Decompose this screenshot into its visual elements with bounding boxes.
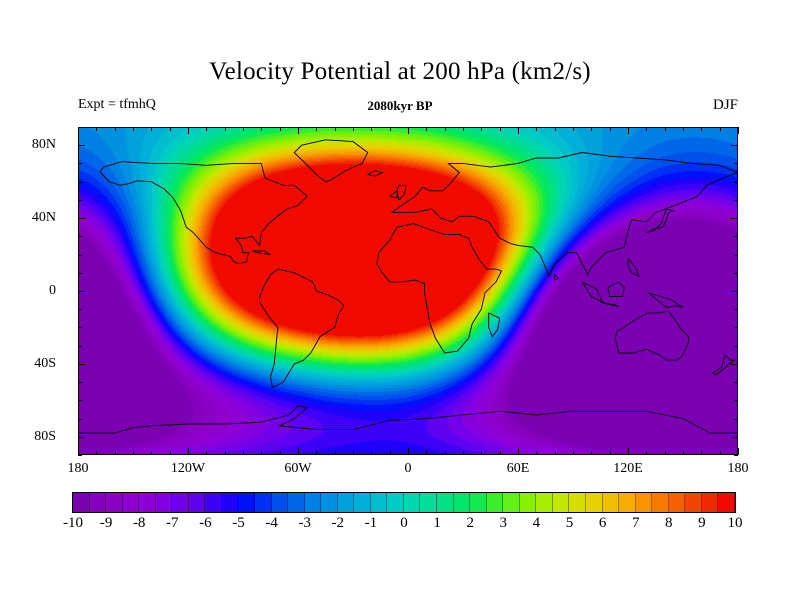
colorbar <box>72 492 736 513</box>
tick-mark <box>738 448 739 455</box>
tick-mark <box>225 127 226 131</box>
tick-mark <box>353 451 354 455</box>
tick-mark <box>243 451 244 455</box>
tick-mark <box>78 182 82 183</box>
tick-mark <box>78 382 82 383</box>
tick-mark <box>335 127 336 131</box>
tick-mark <box>115 127 116 131</box>
colorbar-band-14 <box>305 493 322 512</box>
tick-mark <box>536 127 537 131</box>
lon-label-180: 180 <box>698 461 778 477</box>
colorbar-band-32 <box>603 493 620 512</box>
tick-mark <box>646 127 647 131</box>
colorbar-band-6 <box>172 493 189 512</box>
tick-mark <box>573 451 574 455</box>
lon-label-60W: 60W <box>258 461 338 477</box>
tick-mark <box>500 451 501 455</box>
colorbar-band-22 <box>437 493 454 512</box>
tick-mark <box>335 451 336 455</box>
coastline-path <box>648 293 683 308</box>
colorbar-band-2 <box>106 493 123 512</box>
tick-mark <box>591 127 592 131</box>
coastline-path <box>601 302 619 307</box>
tick-mark <box>734 419 738 420</box>
tick-mark <box>170 127 171 131</box>
colorbar-band-3 <box>123 493 140 512</box>
tick-mark <box>738 127 739 134</box>
tick-mark <box>390 451 391 455</box>
tick-mark <box>115 451 116 455</box>
colorbar-band-4 <box>139 493 156 512</box>
colorbar-band-36 <box>669 493 686 512</box>
colorbar-band-20 <box>404 493 421 512</box>
coastline-path <box>252 251 270 255</box>
coastline-path <box>628 258 639 276</box>
tick-mark <box>734 200 738 201</box>
tick-mark <box>78 236 82 237</box>
tick-mark <box>206 451 207 455</box>
tick-mark <box>445 127 446 131</box>
tick-mark <box>481 127 482 131</box>
tick-mark <box>610 127 611 131</box>
tick-mark <box>481 451 482 455</box>
experiment-label: Expt = tfmhQ <box>78 97 156 113</box>
tick-mark <box>78 127 82 128</box>
tick-mark <box>78 218 85 219</box>
tick-mark <box>646 451 647 455</box>
colorbar-band-8 <box>205 493 222 512</box>
tick-mark <box>243 127 244 131</box>
tick-mark <box>390 127 391 131</box>
colorbar-band-12 <box>272 493 289 512</box>
coastline-path <box>615 311 688 360</box>
tick-mark <box>408 448 409 455</box>
colorbar-band-30 <box>569 493 586 512</box>
colorbar-band-16 <box>338 493 355 512</box>
tick-mark <box>78 455 82 456</box>
tick-mark <box>701 127 702 131</box>
tick-mark <box>151 451 152 455</box>
colorbar-band-21 <box>420 493 437 512</box>
colorbar-band-7 <box>189 493 206 512</box>
colorbar-band-1 <box>90 493 107 512</box>
velocity-potential-map <box>78 127 738 455</box>
tick-mark <box>734 346 738 347</box>
tick-mark <box>188 448 189 455</box>
page-title: Velocity Potential at 200 hPa (km2/s) <box>0 58 800 86</box>
lat-label-40N: 40N <box>0 210 56 226</box>
tick-mark <box>731 437 738 438</box>
coastline-path <box>646 209 674 233</box>
tick-mark <box>170 451 171 455</box>
tick-mark <box>463 127 464 131</box>
tick-mark <box>734 309 738 310</box>
colorbar-band-25 <box>487 493 504 512</box>
tick-mark <box>734 327 738 328</box>
lon-label-180: 180 <box>38 461 118 477</box>
tick-mark <box>720 451 721 455</box>
tick-mark <box>555 451 556 455</box>
tick-mark <box>353 127 354 131</box>
tick-mark <box>518 127 519 134</box>
tick-mark <box>298 127 299 134</box>
tick-mark <box>316 451 317 455</box>
lon-label-60E: 60E <box>478 461 558 477</box>
colorbar-band-11 <box>255 493 272 512</box>
tick-mark <box>78 163 82 164</box>
colorbar-band-39 <box>718 493 735 512</box>
tick-mark <box>734 382 738 383</box>
colorbar-band-35 <box>652 493 669 512</box>
tick-mark <box>628 448 629 455</box>
tick-mark <box>734 127 738 128</box>
tick-mark <box>731 145 738 146</box>
tick-mark <box>371 127 372 131</box>
season-label: DJF <box>713 97 738 114</box>
coastline-path <box>368 171 383 177</box>
colorbar-band-28 <box>536 493 553 512</box>
colorbar-band-34 <box>636 493 653 512</box>
lat-label-80S: 80S <box>0 429 56 445</box>
tick-mark <box>734 182 738 183</box>
tick-mark <box>426 127 427 131</box>
tick-mark <box>78 327 82 328</box>
tick-mark <box>734 455 738 456</box>
coastline-overlay <box>78 127 738 455</box>
tick-mark <box>280 451 281 455</box>
tick-mark <box>96 127 97 131</box>
colorbar-band-5 <box>156 493 173 512</box>
lon-label-0: 0 <box>368 461 448 477</box>
coastline-path <box>390 191 397 198</box>
tick-mark <box>734 273 738 274</box>
tick-mark <box>78 255 82 256</box>
tick-mark <box>371 451 372 455</box>
colorbar-band-29 <box>553 493 570 512</box>
tick-mark <box>683 127 684 131</box>
tick-mark <box>665 451 666 455</box>
tick-mark <box>151 127 152 131</box>
tick-mark <box>225 451 226 455</box>
colorbar-band-9 <box>222 493 239 512</box>
tick-mark <box>734 163 738 164</box>
tick-mark <box>280 127 281 131</box>
tick-mark <box>78 364 85 365</box>
colorbar-band-15 <box>321 493 338 512</box>
tick-mark <box>731 291 738 292</box>
tick-mark <box>96 451 97 455</box>
coastline-path <box>582 282 602 302</box>
coastline-path <box>608 282 625 297</box>
lon-label-120E: 120E <box>588 461 668 477</box>
tick-mark <box>463 451 464 455</box>
tick-mark <box>665 127 666 131</box>
tick-mark <box>536 451 537 455</box>
colorbar-band-33 <box>619 493 636 512</box>
tick-mark <box>734 255 738 256</box>
colorbar-band-31 <box>586 493 603 512</box>
tick-mark <box>731 218 738 219</box>
tick-mark <box>734 400 738 401</box>
coastline-path <box>392 153 739 277</box>
tick-mark <box>78 200 82 201</box>
tick-mark <box>78 400 82 401</box>
tick-mark <box>261 451 262 455</box>
coastline-path <box>294 140 367 182</box>
tick-mark <box>573 127 574 131</box>
coastline-path <box>260 269 344 388</box>
colorbar-band-0 <box>73 493 90 512</box>
coastline-path <box>555 275 559 281</box>
tick-mark <box>78 273 82 274</box>
tick-mark <box>445 451 446 455</box>
tick-mark <box>78 291 85 292</box>
tick-mark <box>78 346 82 347</box>
colorbar-tick-10: 10 <box>705 515 765 532</box>
tick-mark <box>720 127 721 131</box>
colorbar-band-38 <box>702 493 719 512</box>
tick-mark <box>426 451 427 455</box>
tick-mark <box>555 127 556 131</box>
colorbar-band-13 <box>288 493 305 512</box>
tick-mark <box>206 127 207 131</box>
coastline-path <box>397 185 406 200</box>
colorbar-band-17 <box>354 493 371 512</box>
tick-mark <box>408 127 409 134</box>
colorbar-band-19 <box>387 493 404 512</box>
tick-mark <box>78 145 85 146</box>
tick-mark <box>298 448 299 455</box>
lat-label-0: 0 <box>0 283 56 299</box>
tick-mark <box>78 127 79 134</box>
tick-mark <box>133 127 134 131</box>
colorbar-band-23 <box>454 493 471 512</box>
tick-mark <box>188 127 189 134</box>
tick-mark <box>610 451 611 455</box>
tick-mark <box>701 451 702 455</box>
tick-mark <box>683 451 684 455</box>
colorbar-band-24 <box>470 493 487 512</box>
lat-label-80N: 80N <box>0 137 56 153</box>
tick-mark <box>261 127 262 131</box>
tick-mark <box>518 448 519 455</box>
tick-mark <box>500 127 501 131</box>
lat-label-40S: 40S <box>0 356 56 372</box>
tick-mark <box>78 448 79 455</box>
colorbar-band-26 <box>503 493 520 512</box>
colorbar-band-18 <box>371 493 388 512</box>
coastline-path <box>100 162 307 264</box>
tick-mark <box>78 309 82 310</box>
coastline-path <box>489 313 500 337</box>
tick-mark <box>316 127 317 131</box>
tick-mark <box>734 236 738 237</box>
colorbar-band-10 <box>238 493 255 512</box>
coastline-path <box>78 406 738 433</box>
lon-label-120W: 120W <box>148 461 228 477</box>
colorbar-band-37 <box>685 493 702 512</box>
coastline-path <box>377 224 502 353</box>
tick-mark <box>591 451 592 455</box>
colorbar-band-27 <box>520 493 537 512</box>
tick-mark <box>731 364 738 365</box>
tick-mark <box>78 419 82 420</box>
tick-mark <box>628 127 629 134</box>
tick-mark <box>78 437 85 438</box>
tick-mark <box>133 451 134 455</box>
